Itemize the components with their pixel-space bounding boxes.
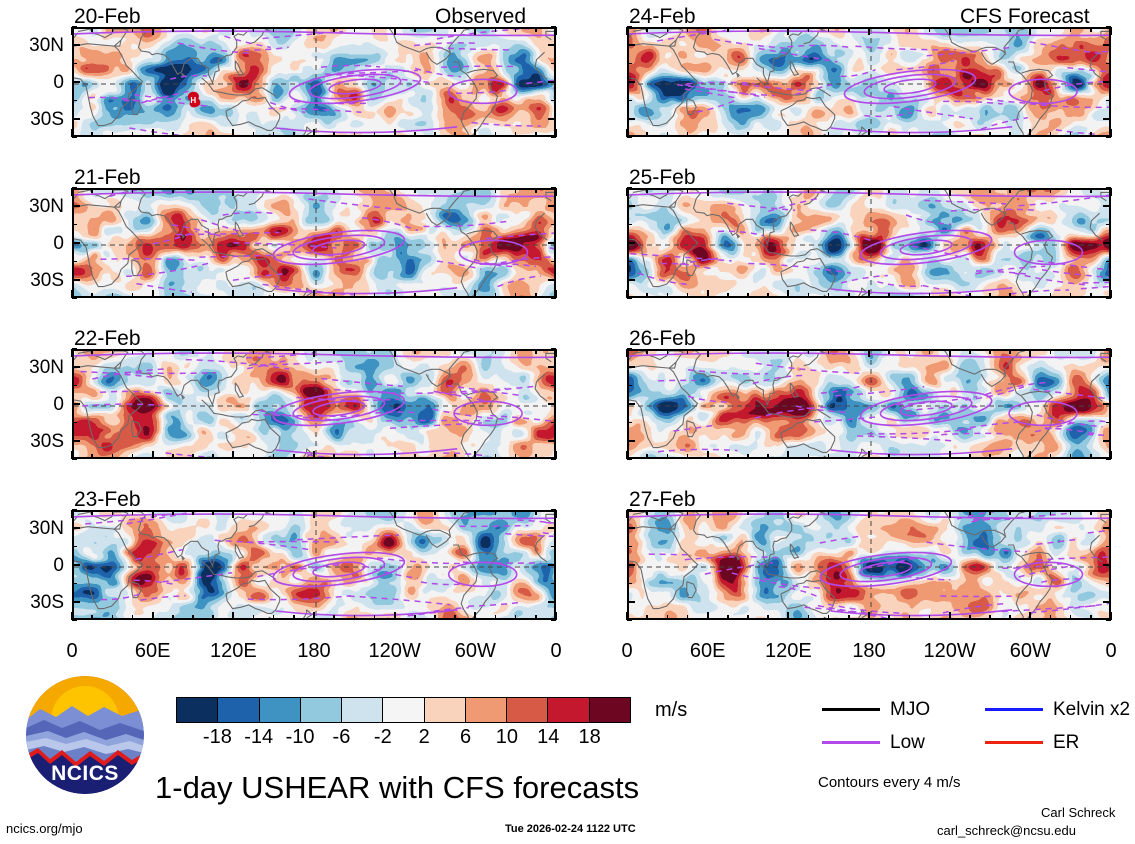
x-tick: [1029, 612, 1031, 620]
x-tick: [747, 188, 749, 193]
x-tick: [747, 510, 749, 515]
panel-title-22-feb: 22-Feb: [74, 328, 141, 349]
panel-title-24-feb: 24-Feb: [629, 6, 696, 27]
x-tick: [1090, 510, 1092, 515]
x-tick: [1009, 27, 1011, 32]
x-tick: [354, 293, 356, 298]
x-tick: [727, 188, 729, 193]
legend-label-mjo: MJO: [890, 700, 930, 719]
y-tick: [627, 205, 635, 207]
coastlines: [74, 512, 556, 620]
x-tick: [949, 510, 951, 518]
tropical-cyclone-symbol: H: [188, 92, 201, 108]
x-tick: [474, 290, 476, 298]
colorbar-segment: [548, 698, 589, 722]
x-tick: [112, 510, 114, 515]
x-tick: [273, 454, 275, 459]
y-tick: [548, 81, 556, 83]
x-tick: [212, 454, 214, 459]
x-tick: [71, 510, 73, 518]
x-tick: [767, 510, 769, 515]
y-tick: [548, 403, 556, 405]
x-tick: [132, 188, 134, 193]
x-tick: [1090, 27, 1092, 32]
legend-label-er: ER: [1053, 733, 1079, 752]
x-tick: [707, 510, 709, 518]
x-tick: [273, 510, 275, 515]
x-tick: [555, 349, 557, 357]
x-tick: [333, 454, 335, 459]
x-tick: [848, 349, 850, 354]
x-tick: [293, 293, 295, 298]
author-email[interactable]: carl_schreck@ncsu.edu: [937, 824, 1076, 837]
x-tick: [868, 510, 870, 518]
x-tick: [909, 293, 911, 298]
contour-interval-note: Contours every 4 m/s: [818, 775, 961, 790]
map-panel-24-feb: [627, 27, 1111, 137]
y-tick: [627, 261, 632, 263]
x-axis-label: 60W: [985, 641, 1075, 661]
x-tick: [515, 132, 517, 137]
x-tick: [667, 27, 669, 32]
x-tick: [293, 349, 295, 354]
x-tick: [1070, 132, 1072, 137]
x-tick: [1009, 349, 1011, 354]
x-tick: [909, 615, 911, 620]
x-tick: [374, 349, 376, 354]
y-tick: [1103, 601, 1111, 603]
x-tick: [767, 349, 769, 354]
y-axis-label: 30N: [2, 36, 64, 55]
x-tick: [767, 293, 769, 298]
y-tick: [627, 118, 635, 120]
y-tick: [72, 279, 80, 281]
y-tick: [551, 100, 556, 102]
y-tick: [627, 187, 632, 189]
x-tick: [626, 510, 628, 518]
x-tick: [909, 188, 911, 193]
x-tick: [969, 293, 971, 298]
x-tick: [787, 349, 789, 357]
x-tick: [192, 188, 194, 193]
x-tick: [989, 510, 991, 515]
y-tick: [627, 297, 632, 299]
x-tick: [71, 349, 73, 357]
x-tick: [767, 132, 769, 137]
x-axis-label: 60W: [430, 641, 520, 661]
map-panel-22-feb: [72, 349, 556, 459]
x-tick: [555, 27, 557, 35]
x-tick: [1070, 27, 1072, 32]
x-tick: [1090, 454, 1092, 459]
x-tick: [1070, 615, 1072, 620]
x-tick: [273, 188, 275, 193]
y-tick: [72, 261, 77, 263]
x-tick: [313, 510, 315, 518]
x-tick: [535, 27, 537, 32]
y-axis-label: 30N: [2, 197, 64, 216]
x-tick: [535, 132, 537, 137]
x-tick: [71, 188, 73, 196]
x-tick: [848, 454, 850, 459]
y-tick: [551, 136, 556, 138]
x-tick: [787, 290, 789, 298]
x-tick: [848, 27, 850, 32]
y-axis-label: 0: [2, 395, 64, 414]
y-tick: [72, 440, 80, 442]
x-tick: [212, 293, 214, 298]
x-tick: [1110, 188, 1112, 196]
x-axis-label: 120W: [905, 641, 995, 661]
y-tick: [72, 100, 77, 102]
x-tick: [909, 454, 911, 459]
x-tick: [646, 132, 648, 137]
x-tick: [414, 27, 416, 32]
y-tick: [1106, 187, 1111, 189]
x-tick: [232, 290, 234, 298]
x-tick: [132, 132, 134, 137]
x-tick: [354, 510, 356, 515]
y-tick: [551, 619, 556, 621]
map-panel-21-feb: [72, 188, 556, 298]
x-tick: [91, 510, 93, 515]
x-tick: [969, 349, 971, 354]
map-overlay: [74, 190, 556, 298]
y-tick: [627, 564, 635, 566]
y-tick: [72, 187, 77, 189]
x-tick: [989, 454, 991, 459]
x-tick: [1029, 349, 1031, 357]
x-tick: [888, 349, 890, 354]
x-tick: [313, 27, 315, 35]
x-tick: [333, 188, 335, 193]
y-tick: [1106, 348, 1111, 350]
x-tick: [909, 27, 911, 32]
x-tick: [112, 132, 114, 137]
colorbar-segment: [383, 698, 424, 722]
x-tick: [969, 27, 971, 32]
x-tick: [273, 349, 275, 354]
x-tick: [253, 27, 255, 32]
y-tick: [72, 366, 80, 368]
x-tick: [91, 188, 93, 193]
x-tick: [474, 27, 476, 35]
x-tick: [454, 132, 456, 137]
x-tick: [687, 188, 689, 193]
y-tick: [548, 564, 556, 566]
y-tick: [551, 26, 556, 28]
x-tick: [192, 27, 194, 32]
x-tick: [747, 349, 749, 354]
x-tick: [253, 293, 255, 298]
map-panel-20-feb: H: [72, 27, 556, 137]
x-tick: [1050, 349, 1052, 354]
x-tick: [474, 451, 476, 459]
colorbar-segment: [507, 698, 548, 722]
x-tick: [888, 615, 890, 620]
x-tick: [767, 188, 769, 193]
x-tick: [394, 349, 396, 357]
column-header-cfs-forecast: CFS Forecast: [960, 6, 1090, 27]
colorbar-tick-label: 18: [560, 727, 620, 747]
x-tick: [374, 293, 376, 298]
x-tick: [787, 27, 789, 35]
x-tick: [828, 188, 830, 193]
y-tick: [1106, 100, 1111, 102]
x-tick: [515, 510, 517, 515]
x-tick: [929, 349, 931, 354]
x-tick: [808, 349, 810, 354]
x-tick: [727, 27, 729, 32]
x-tick: [354, 132, 356, 137]
y-tick: [627, 509, 632, 511]
x-tick: [474, 349, 476, 357]
x-tick: [888, 27, 890, 32]
x-tick: [888, 132, 890, 137]
legend-swatch-mjo: [822, 708, 880, 711]
x-tick: [152, 349, 154, 357]
x-tick: [1050, 132, 1052, 137]
x-tick: [747, 293, 749, 298]
x-tick: [474, 129, 476, 137]
map-panel-27-feb: [627, 510, 1111, 620]
x-tick: [293, 132, 295, 137]
x-tick: [515, 293, 517, 298]
x-tick: [1070, 510, 1072, 515]
map-overlay: H: [74, 29, 556, 137]
y-tick: [1106, 224, 1111, 226]
x-tick: [71, 27, 73, 35]
y-tick: [72, 26, 77, 28]
x-tick: [374, 132, 376, 137]
x-tick: [495, 132, 497, 137]
y-tick: [627, 583, 632, 585]
y-tick: [1103, 527, 1111, 529]
x-tick: [969, 132, 971, 137]
y-tick: [627, 619, 632, 621]
x-tick: [687, 615, 689, 620]
x-tick: [767, 454, 769, 459]
x-tick: [667, 615, 669, 620]
x-tick: [828, 27, 830, 32]
y-tick: [627, 224, 632, 226]
x-tick: [394, 612, 396, 620]
colorbar-segment: [177, 698, 218, 722]
y-tick: [1106, 583, 1111, 585]
y-tick: [548, 440, 556, 442]
x-tick: [434, 188, 436, 193]
wave-contours: [629, 31, 1111, 135]
y-tick: [627, 403, 635, 405]
column-header-observed: Observed: [435, 6, 526, 27]
x-tick: [313, 349, 315, 357]
x-tick: [1029, 510, 1031, 518]
y-tick: [1106, 458, 1111, 460]
y-tick: [551, 458, 556, 460]
x-tick: [646, 510, 648, 515]
wave-contours: [629, 192, 1111, 296]
y-tick: [72, 63, 77, 65]
x-tick: [212, 132, 214, 137]
y-tick: [551, 583, 556, 585]
x-tick: [454, 349, 456, 354]
x-tick: [969, 510, 971, 515]
x-tick: [646, 454, 648, 459]
x-tick: [273, 293, 275, 298]
x-tick: [293, 188, 295, 193]
x-tick: [515, 188, 517, 193]
x-tick: [787, 510, 789, 518]
y-tick: [1106, 509, 1111, 511]
x-tick: [929, 188, 931, 193]
map-panel-26-feb: [627, 349, 1111, 459]
wave-contours: [74, 512, 556, 616]
x-tick: [414, 510, 416, 515]
y-tick: [627, 601, 635, 603]
page-title: 1-day USHEAR with CFS forecasts: [155, 772, 639, 803]
y-tick: [72, 527, 80, 529]
x-tick: [293, 510, 295, 515]
x-tick: [333, 510, 335, 515]
x-tick: [212, 615, 214, 620]
x-tick: [132, 510, 134, 515]
panel-title-20-feb: 20-Feb: [74, 6, 141, 27]
x-tick: [747, 27, 749, 32]
x-tick: [808, 454, 810, 459]
x-tick: [273, 615, 275, 620]
x-tick: [707, 451, 709, 459]
x-tick: [1009, 510, 1011, 515]
x-axis-label: 180: [824, 641, 914, 661]
x-tick: [1070, 349, 1072, 354]
x-tick: [868, 188, 870, 196]
x-tick: [132, 293, 134, 298]
x-tick: [929, 454, 931, 459]
y-tick: [548, 279, 556, 281]
x-tick: [555, 510, 557, 518]
x-tick: [212, 349, 214, 354]
y-tick: [72, 385, 77, 387]
y-tick: [1106, 619, 1111, 621]
site-link[interactable]: ncics.org/mjo: [6, 822, 83, 835]
x-tick: [434, 293, 436, 298]
x-tick: [828, 293, 830, 298]
x-tick: [132, 349, 134, 354]
x-tick: [808, 27, 810, 32]
x-tick: [909, 132, 911, 137]
x-tick: [949, 451, 951, 459]
colorbar-segment: [218, 698, 259, 722]
y-tick: [551, 63, 556, 65]
y-tick: [72, 136, 77, 138]
y-tick: [551, 187, 556, 189]
x-tick: [667, 293, 669, 298]
x-tick: [949, 290, 951, 298]
x-tick: [112, 615, 114, 620]
x-tick: [929, 510, 931, 515]
x-tick: [112, 188, 114, 193]
x-tick: [989, 27, 991, 32]
x-tick: [868, 451, 870, 459]
x-tick: [454, 188, 456, 193]
x-tick: [1029, 129, 1031, 137]
x-tick: [747, 615, 749, 620]
x-tick: [232, 188, 234, 196]
x-tick: [848, 293, 850, 298]
x-tick: [172, 27, 174, 32]
x-tick: [434, 615, 436, 620]
y-tick: [72, 564, 80, 566]
x-tick: [989, 615, 991, 620]
x-tick: [868, 612, 870, 620]
y-tick: [72, 403, 80, 405]
x-tick: [667, 188, 669, 193]
y-tick: [1106, 261, 1111, 263]
x-tick: [394, 451, 396, 459]
x-tick: [949, 129, 951, 137]
x-tick: [848, 132, 850, 137]
x-tick: [687, 132, 689, 137]
x-tick: [515, 349, 517, 354]
map-overlay: [629, 512, 1111, 620]
x-tick: [354, 349, 356, 354]
x-tick: [727, 454, 729, 459]
y-tick: [1106, 385, 1111, 387]
x-tick: [474, 510, 476, 518]
x-tick: [667, 132, 669, 137]
x-tick: [152, 188, 154, 196]
y-tick: [1103, 118, 1111, 120]
x-tick: [434, 454, 436, 459]
y-tick: [551, 385, 556, 387]
x-tick: [212, 27, 214, 32]
coastlines: [74, 351, 556, 459]
x-tick: [949, 27, 951, 35]
x-tick: [687, 349, 689, 354]
x-tick: [253, 615, 255, 620]
x-tick: [667, 349, 669, 354]
x-tick: [808, 132, 810, 137]
x-tick: [1070, 188, 1072, 193]
x-tick: [707, 188, 709, 196]
y-tick: [551, 422, 556, 424]
y-tick: [1103, 564, 1111, 566]
x-tick: [1009, 454, 1011, 459]
y-tick: [72, 44, 80, 46]
y-axis-label: 30N: [2, 519, 64, 538]
x-tick: [152, 290, 154, 298]
x-tick: [969, 454, 971, 459]
x-tick: [848, 510, 850, 515]
x-tick: [374, 615, 376, 620]
colorbar-unit-label: m/s: [655, 700, 687, 720]
x-tick: [454, 293, 456, 298]
x-tick: [192, 454, 194, 459]
x-tick: [949, 349, 951, 357]
x-tick: [555, 188, 557, 196]
x-tick: [787, 188, 789, 196]
x-axis-label: 0: [27, 641, 117, 661]
x-tick: [969, 615, 971, 620]
x-tick: [91, 454, 93, 459]
y-tick: [551, 546, 556, 548]
x-tick: [687, 454, 689, 459]
x-tick: [646, 27, 648, 32]
x-tick: [253, 510, 255, 515]
x-tick: [273, 132, 275, 137]
panel-title-21-feb: 21-Feb: [74, 167, 141, 188]
x-tick: [91, 293, 93, 298]
